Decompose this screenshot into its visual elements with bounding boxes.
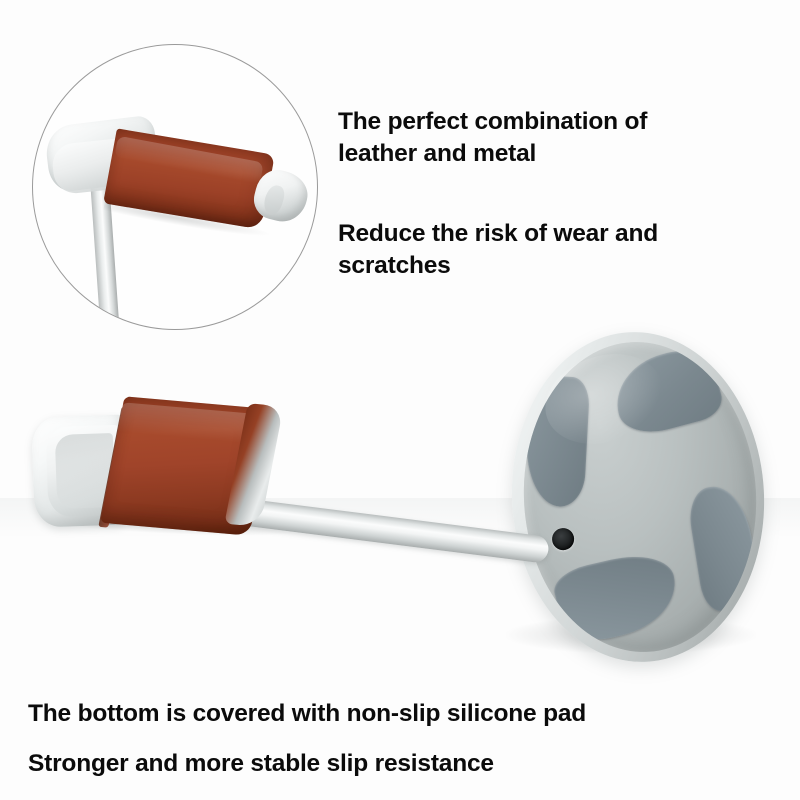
screw-hole (552, 528, 575, 551)
silicone-pad-left (524, 375, 591, 508)
inset-closeup-circle (32, 44, 318, 330)
silicone-pad-top (607, 342, 727, 440)
headline-silicone-pad: The bottom is covered with non-slip sili… (28, 698, 768, 730)
silicone-pad-right (685, 482, 762, 614)
headline-leather-metal: The perfect combination of leather and m… (338, 106, 758, 170)
product-marketing-image: The perfect combination of leather and m… (0, 0, 800, 800)
headline-slip-resistance: Stronger and more stable slip resistance (28, 748, 768, 780)
headline-reduce-wear: Reduce the risk of wear and scratches (338, 218, 768, 282)
product-photo (0, 330, 800, 690)
